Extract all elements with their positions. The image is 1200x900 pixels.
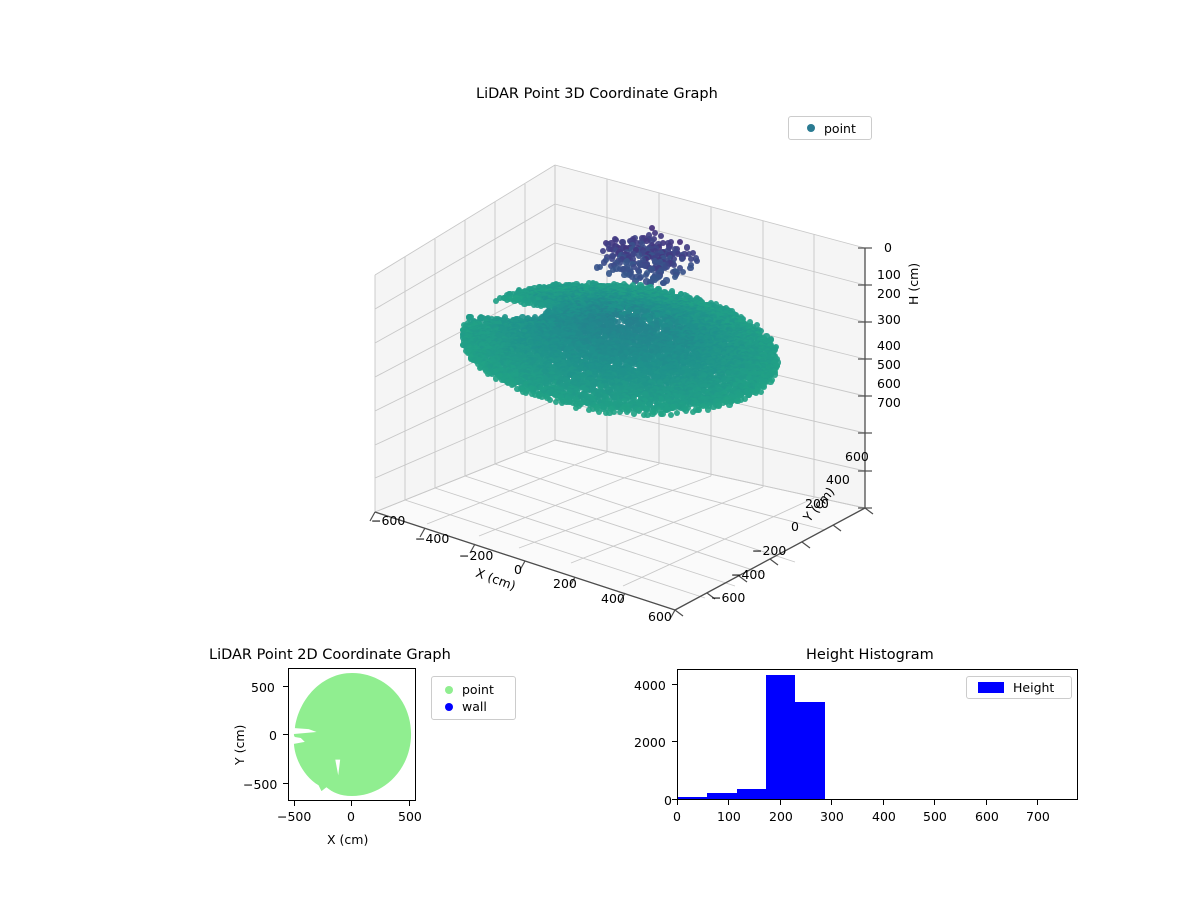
panel-3d-title: LiDAR Point 3D Coordinate Graph <box>476 86 718 102</box>
scatter-point <box>687 265 693 271</box>
lidar-3d-point-cloud <box>300 140 920 630</box>
scatter-point <box>680 269 686 275</box>
scatter-point <box>694 258 700 264</box>
legend-3d[interactable]: point <box>788 116 872 140</box>
scatter-point <box>672 274 678 280</box>
scatter-point <box>679 256 685 262</box>
scatter-point <box>594 264 600 270</box>
scatter-point <box>658 233 664 239</box>
scatter-point <box>684 244 690 250</box>
scatter-point <box>493 298 499 304</box>
legend-3d-label: point <box>824 121 856 136</box>
scatter-point <box>538 302 544 308</box>
scatter-point <box>504 297 510 303</box>
scatter-point <box>606 270 612 276</box>
scatter-point <box>600 248 606 254</box>
point-marker-icon <box>807 124 815 132</box>
figure-canvas: LiDAR Point 3D Coordinate Graph point <box>0 0 1200 900</box>
scatter-point <box>511 298 517 304</box>
scatter-point <box>677 239 683 245</box>
scatter-point <box>621 272 627 278</box>
lidar-3d-axes[interactable] <box>300 140 920 630</box>
scatter-point <box>521 301 527 307</box>
legend-3d-item-point: point <box>796 121 864 136</box>
